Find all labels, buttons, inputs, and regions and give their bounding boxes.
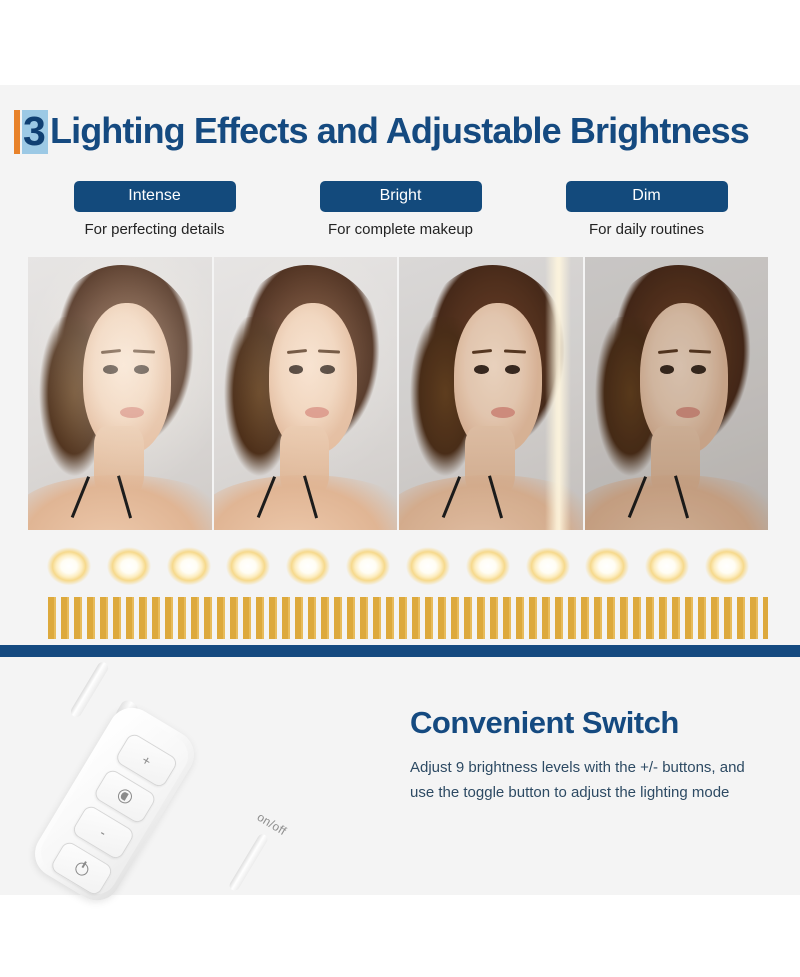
portrait-photo xyxy=(585,257,769,530)
mode-bright: Bright For complete makeup xyxy=(278,181,523,239)
led-bulb-icon xyxy=(106,547,152,587)
inline-controller-body: + - xyxy=(26,699,203,909)
led-bulb-icon xyxy=(525,547,571,587)
led-bulb-icon xyxy=(225,547,271,587)
section-headline: 3 Lighting Effects and Adjustable Bright… xyxy=(14,103,800,159)
headline-text: Lighting Effects and Adjustable Brightne… xyxy=(50,108,749,154)
led-bulb-icon xyxy=(465,547,511,587)
lighting-effects-section: 3 Lighting Effects and Adjustable Bright… xyxy=(0,85,800,645)
switch-description: Adjust 9 brightness levels with the +/- … xyxy=(410,755,750,805)
led-bulb-icon xyxy=(584,547,630,587)
switch-title: Convenient Switch xyxy=(410,705,770,741)
led-bulb-icon xyxy=(285,547,331,587)
portrait-comparison-strip xyxy=(28,257,768,530)
mode-caption-bright: For complete makeup xyxy=(278,221,523,239)
led-bulb-icon xyxy=(644,547,690,587)
mode-caption-dim: For daily routines xyxy=(524,221,769,239)
led-strip-graphic xyxy=(48,597,768,639)
section-divider xyxy=(0,645,800,657)
mode-intense: Intense For perfecting details xyxy=(32,181,277,239)
controller-illustration: + - on/off xyxy=(60,657,380,895)
convenient-switch-section: + - on/off Convenient Switch Adjust 9 br… xyxy=(0,657,800,895)
cable-upper xyxy=(69,660,110,719)
led-bulb-row xyxy=(28,543,768,591)
mode-labels: Intense For perfecting details Bright Fo… xyxy=(32,181,768,243)
headline-number: 3 xyxy=(23,108,45,154)
mode-badge-intense[interactable]: Intense xyxy=(74,181,236,212)
accent-bar-icon xyxy=(14,110,20,154)
mode-caption-intense: For perfecting details xyxy=(32,221,277,239)
mode-badge-dim[interactable]: Dim xyxy=(566,181,728,212)
mode-toggle-icon xyxy=(115,787,134,806)
mode-dim: Dim For daily routines xyxy=(524,181,769,239)
led-bulb-icon xyxy=(405,547,451,587)
led-bulb-icon xyxy=(46,547,92,587)
portrait-photo xyxy=(28,257,212,530)
led-bulb-icon xyxy=(345,547,391,587)
mode-badge-bright[interactable]: Bright xyxy=(320,181,482,212)
cable-lower xyxy=(228,832,270,892)
power-icon xyxy=(73,859,91,877)
headline-accent: 3 xyxy=(14,108,48,154)
portrait-photo xyxy=(399,257,583,530)
switch-copy-block: Convenient Switch Adjust 9 brightness le… xyxy=(410,705,770,805)
led-bulb-icon xyxy=(704,547,750,587)
portrait-photo xyxy=(214,257,398,530)
led-bulb-icon xyxy=(166,547,212,587)
